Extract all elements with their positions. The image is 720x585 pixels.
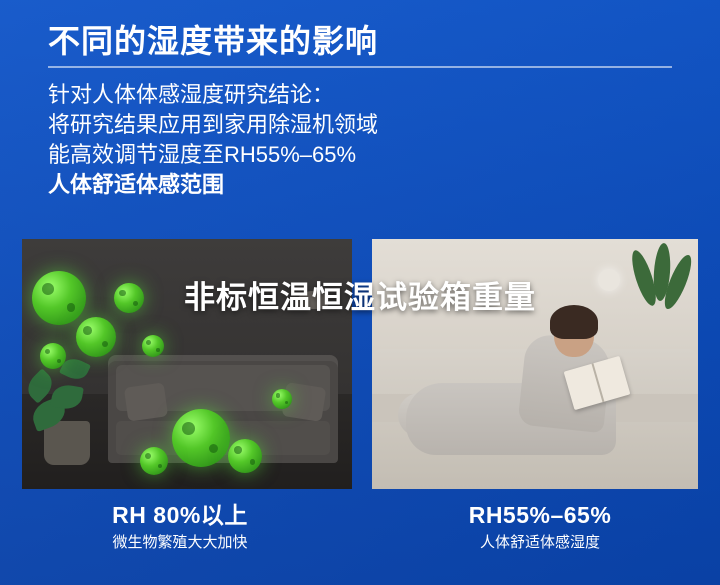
caption-left: RH 80%以上 微生物繁殖大大加快: [0, 500, 360, 556]
caption-row: RH 80%以上 微生物繁殖大大加快 RH55%–65% 人体舒适体感湿度: [0, 500, 720, 556]
microbe-icon: [228, 439, 262, 473]
microbe-icon: [172, 409, 230, 467]
subtitle-line-1: 针对人体体感湿度研究结论：: [48, 80, 678, 110]
plant-pot: [44, 421, 90, 465]
page-title: 不同的湿度带来的影响: [48, 16, 378, 62]
title-divider: [48, 66, 672, 68]
microbe-icon: [40, 343, 66, 369]
caption-right: RH55%–65% 人体舒适体感湿度: [360, 500, 720, 556]
caption-right-desc: 人体舒适体感湿度: [360, 530, 720, 556]
microbe-icon: [140, 447, 168, 475]
overlay-title: 非标恒温恒湿试验箱重量: [0, 272, 720, 317]
caption-left-title: RH 80%以上: [0, 500, 360, 530]
microbe-icon: [272, 389, 292, 409]
sofa-pillow: [124, 382, 168, 421]
subtitle-line-3: 能高效调节湿度至RH55%–65%: [48, 140, 678, 170]
caption-left-desc: 微生物繁殖大大加快: [0, 530, 360, 556]
microbe-icon: [76, 317, 116, 357]
caption-right-title: RH55%–65%: [360, 500, 720, 530]
subtitle-line-2: 将研究结果应用到家用除湿机领域: [48, 110, 678, 140]
poster-root: 不同的湿度带来的影响 针对人体体感湿度研究结论： 将研究结果应用到家用除湿机领域…: [0, 0, 720, 585]
subtitle-block: 针对人体体感湿度研究结论： 将研究结果应用到家用除湿机领域 能高效调节湿度至RH…: [48, 80, 678, 200]
microbe-icon: [142, 335, 164, 357]
subtitle-line-4: 人体舒适体感范围: [48, 170, 678, 200]
